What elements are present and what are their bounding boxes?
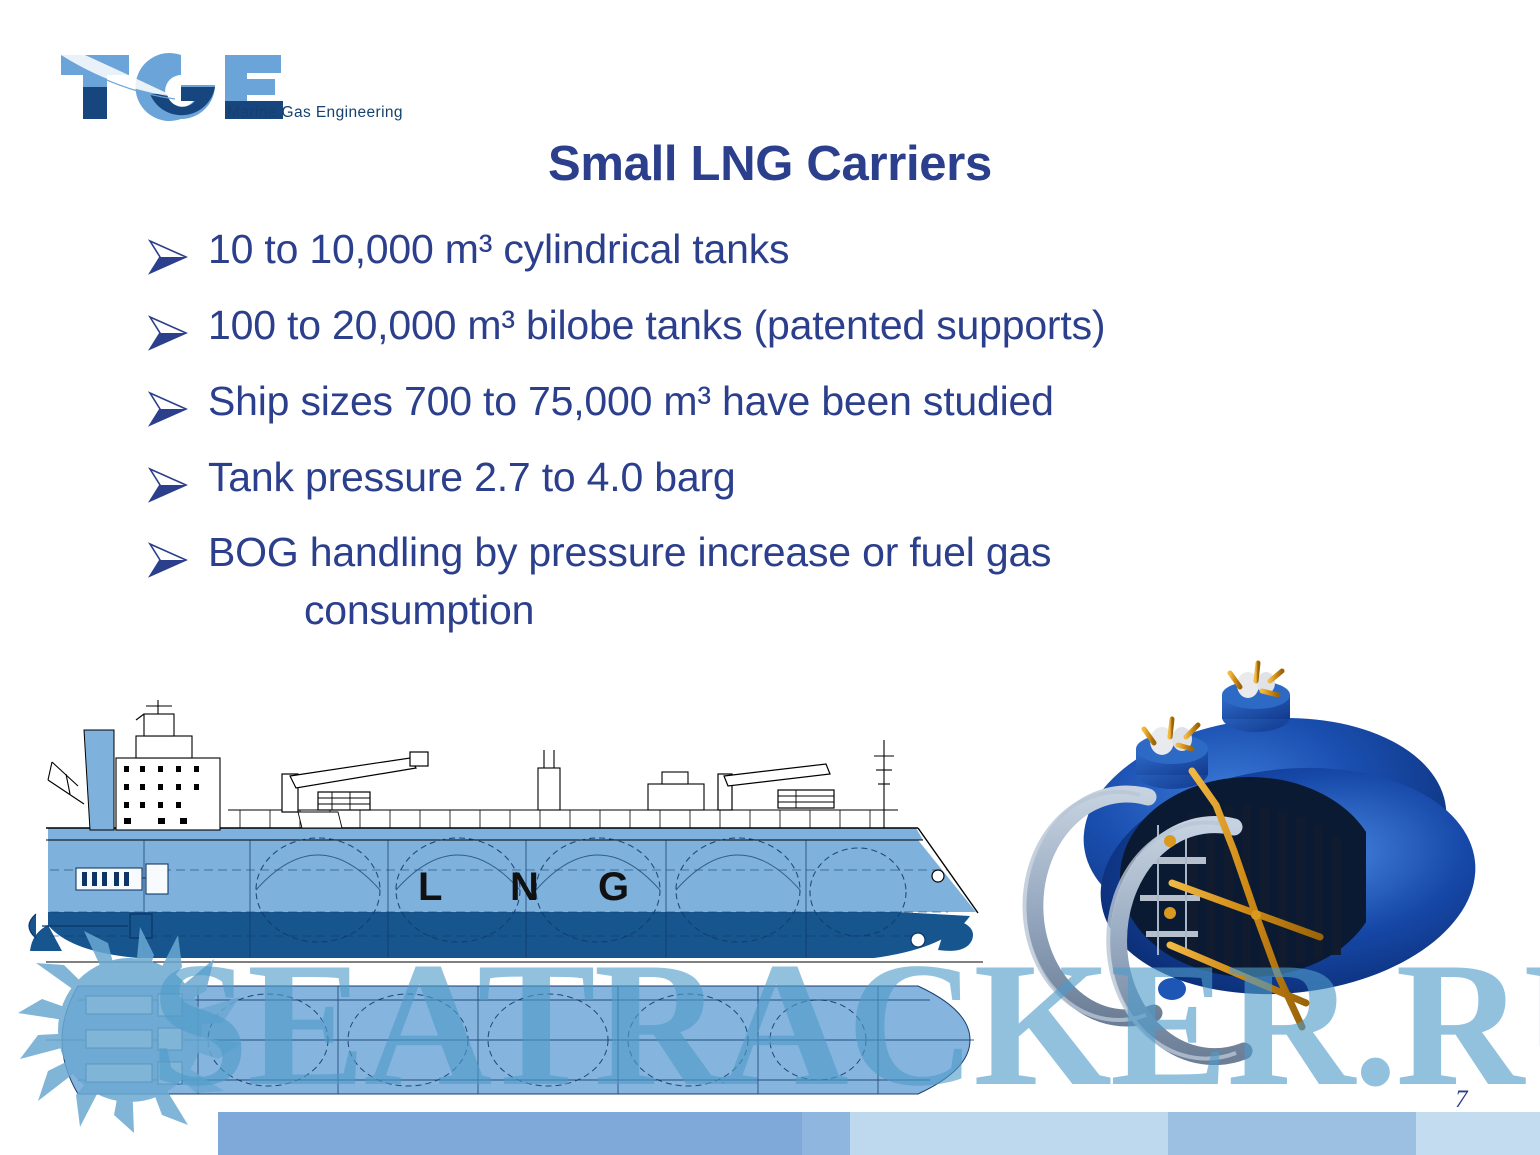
list-item: 100 to 20,000 m³ bilobe tanks (patented … <box>146 304 1446 348</box>
footer-segment-5 <box>1416 1112 1540 1155</box>
footer-bar <box>0 1112 1540 1155</box>
hull-letter-g: G <box>598 865 629 909</box>
list-item-label: Ship sizes 700 to 75,000 m³ have been st… <box>208 378 1054 424</box>
hull-letter-l: L <box>418 865 442 909</box>
list-item-label: 10 to 10,000 m³ cylindrical tanks <box>208 226 789 272</box>
list-item-label: Tank pressure 2.7 to 4.0 barg <box>208 454 736 500</box>
list-item: Tank pressure 2.7 to 4.0 barg <box>146 456 1446 500</box>
tge-logo: Marine Gas Engineering <box>55 47 395 132</box>
arrow-bullet-icon <box>146 389 192 429</box>
list-item: Ship sizes 700 to 75,000 m³ have been st… <box>146 380 1446 424</box>
list-item-label: 100 to 20,000 m³ bilobe tanks (patented … <box>208 302 1105 348</box>
list-item-label: BOG handling by pressure increase or fue… <box>208 529 1051 575</box>
arrow-bullet-icon <box>146 540 192 580</box>
footer-segment-3 <box>850 1112 1168 1155</box>
list-item-label-line2: consumption <box>208 589 1446 633</box>
page-title: Small LNG Carriers <box>0 136 1540 192</box>
bullet-list: 10 to 10,000 m³ cylindrical tanks 100 to… <box>146 228 1446 665</box>
arrow-bullet-icon <box>146 465 192 505</box>
bilobe-tank-3d-render <box>1020 645 1530 1065</box>
hull-letter-n: N <box>510 865 539 909</box>
logo-tagline: Marine Gas Engineering <box>227 104 403 122</box>
footer-segment-1 <box>218 1112 802 1155</box>
list-item: 10 to 10,000 m³ cylindrical tanks <box>146 228 1446 272</box>
arrow-bullet-icon <box>146 313 192 353</box>
footer-segment-4 <box>1168 1112 1416 1155</box>
list-item: BOG handling by pressure increase or fue… <box>146 531 1446 633</box>
slide: Marine Gas Engineering Small LNG Carrier… <box>0 0 1540 1155</box>
footer-segment-2 <box>802 1112 850 1155</box>
starburst-graphic <box>18 925 243 1135</box>
page-number: 7 <box>1455 1086 1468 1114</box>
arrow-bullet-icon <box>146 237 192 277</box>
